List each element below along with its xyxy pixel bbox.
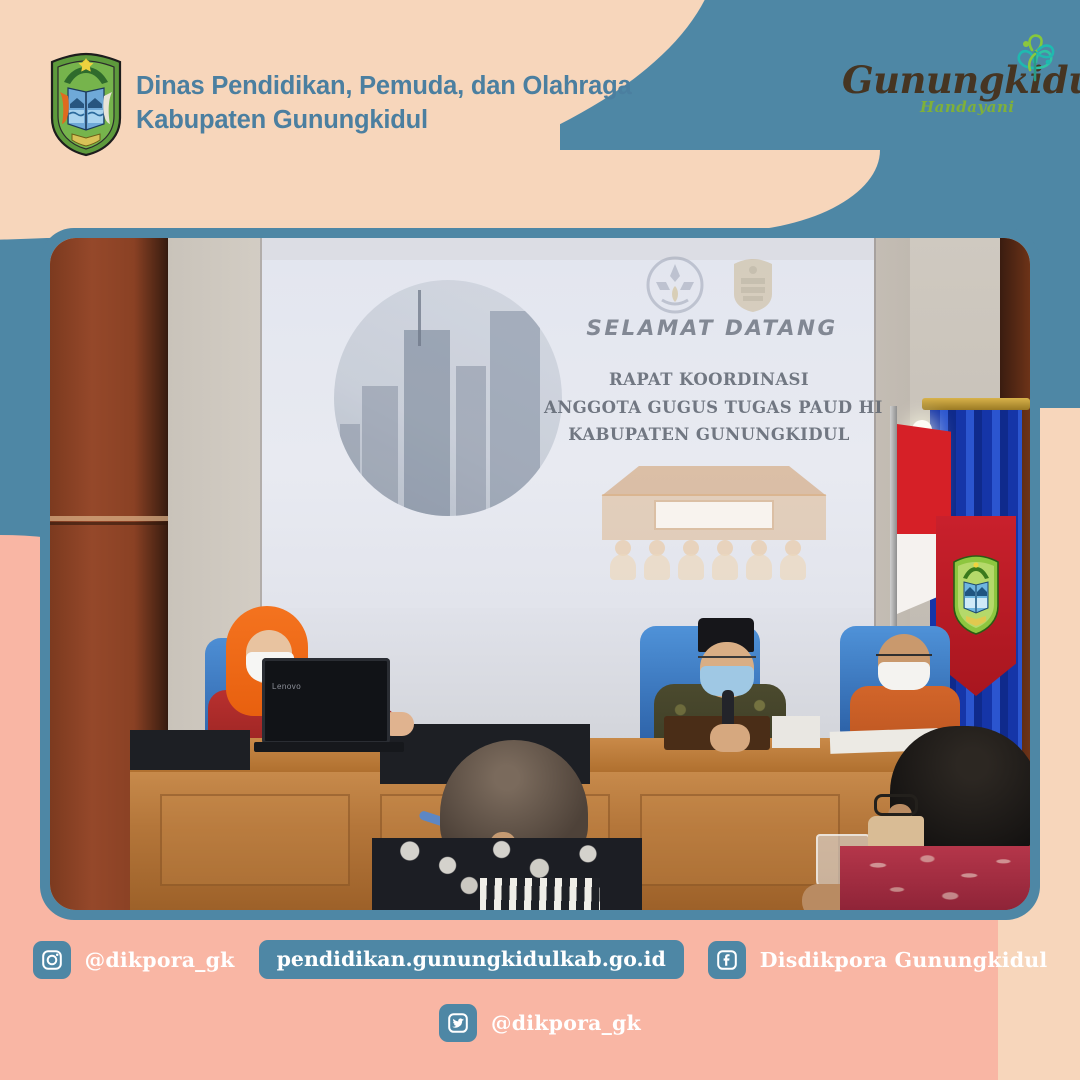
slide-building xyxy=(404,330,450,516)
twitter-handle[interactable]: @dikpora_gk xyxy=(491,1011,641,1035)
slide-child-figure xyxy=(644,540,670,580)
person-center-hands xyxy=(710,724,750,752)
eyeglasses xyxy=(698,656,756,666)
slide-line-2: ANGGOTA GUGUS TUGAS PAUD HI xyxy=(544,394,874,422)
instagram-icon[interactable] xyxy=(33,941,71,979)
slide-welcome-text: SELAMAT DATANG xyxy=(562,316,862,341)
facebook-icon[interactable] xyxy=(708,941,746,979)
slide-line-1: RAPAT KOORDINASI xyxy=(544,366,874,394)
slide-line-3: KABUPATEN GUNUNGKIDUL xyxy=(544,421,874,449)
person-foreground-left-pattern xyxy=(480,878,600,910)
curtain-rod xyxy=(922,398,1030,410)
org-title-line1: Dinas Pendidikan, Pemuda, dan Olahraga xyxy=(136,70,631,104)
gunungkidul-regency-crest-icon xyxy=(46,52,126,157)
table-cloth xyxy=(130,730,250,770)
slide-child-figure xyxy=(678,540,704,580)
slide-subject-text: RAPAT KOORDINASI ANGGOTA GUGUS TUGAS PAU… xyxy=(544,366,874,449)
slide-child-figure xyxy=(712,540,738,580)
footer-row-primary: @dikpora_gk pendidikan.gunungkidulkab.go… xyxy=(0,940,1080,979)
footer-row-secondary: @dikpora_gk xyxy=(0,1004,1080,1042)
footer-social-bar: @dikpora_gk pendidikan.gunungkidulkab.go… xyxy=(0,922,1080,1080)
header: Dinas Pendidikan, Pemuda, dan Olahraga K… xyxy=(0,0,1080,200)
website-url-pill[interactable]: pendidikan.gunungkidulkab.go.id xyxy=(259,940,684,979)
laptop-base xyxy=(254,742,404,752)
brand-tagline: Handayani xyxy=(920,98,1015,116)
slide-building-spire xyxy=(418,290,421,346)
face-mask xyxy=(878,662,930,690)
slide-building xyxy=(362,386,398,516)
table-panel xyxy=(160,794,350,886)
laptop-brand-label: Lenovo xyxy=(272,682,301,691)
person-foreground-right-shirt xyxy=(840,846,1030,910)
panel-trim xyxy=(50,516,168,521)
school-window xyxy=(654,500,774,530)
panel-trim-shadow xyxy=(50,522,168,525)
slide-photo-circle xyxy=(334,280,562,516)
laptop xyxy=(262,658,390,744)
tut-wuri-handayani-logo-icon xyxy=(646,256,704,314)
eyeglasses xyxy=(874,794,918,816)
regency-banner-crest-icon xyxy=(950,554,1002,636)
desk-white-box xyxy=(772,716,820,748)
slide-building xyxy=(490,311,540,516)
table-panel xyxy=(640,794,840,886)
facebook-page-name[interactable]: Disdikpora Gunungkidul xyxy=(760,948,1048,972)
regency-emblem-icon xyxy=(728,256,778,314)
instagram-handle[interactable]: @dikpora_gk xyxy=(85,948,235,972)
slide-child-figure xyxy=(780,540,806,580)
slide-school-illustration xyxy=(558,460,870,580)
coordination-meeting-photo: SELAMAT DATANG RAPAT KOORDINASI ANGGOTA … xyxy=(50,238,1030,910)
slide-building xyxy=(456,366,486,516)
org-title-line2: Kabupaten Gunungkidul xyxy=(136,104,631,138)
gunungkidul-brand-logo: Gunungkidul Handayani xyxy=(842,40,1062,126)
photo-frame: SELAMAT DATANG RAPAT KOORDINASI ANGGOTA … xyxy=(40,228,1040,920)
slide-child-figure xyxy=(610,540,636,580)
slide-building xyxy=(340,424,360,516)
butterfly-ornament-icon xyxy=(1004,28,1066,90)
slide-child-figure xyxy=(746,540,772,580)
twitter-icon[interactable] xyxy=(439,1004,477,1042)
school-roof xyxy=(580,466,848,496)
page-title: Dinas Pendidikan, Pemuda, dan Olahraga K… xyxy=(136,70,631,137)
